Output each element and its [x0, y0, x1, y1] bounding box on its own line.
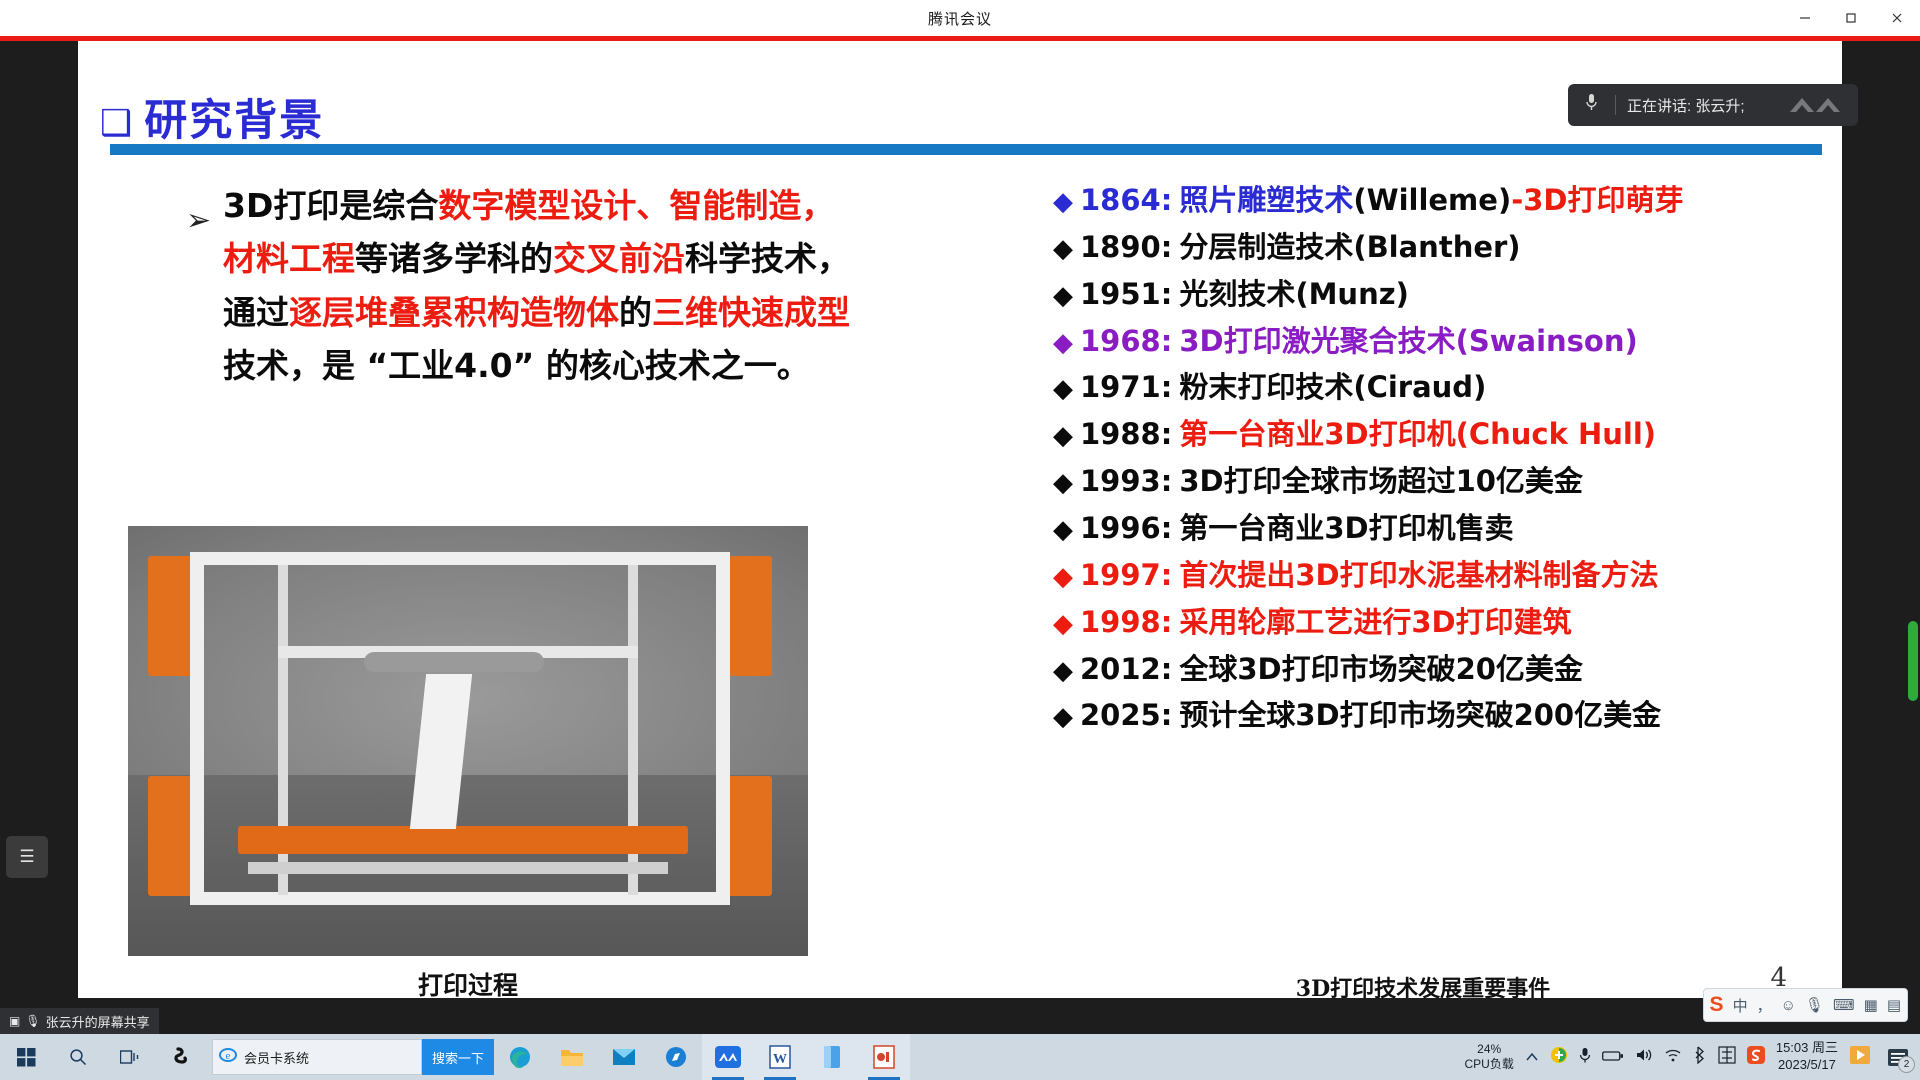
text-run: 等诸多学科的 — [355, 239, 553, 278]
timeline-year: 2025: — [1080, 696, 1172, 735]
ime-menu-icon[interactable]: ▤ — [1887, 996, 1901, 1014]
list-panel-icon: ☰ — [19, 847, 34, 867]
diamond-bullet-icon: ◆ — [1053, 279, 1073, 314]
internet-explorer-icon: e — [219, 1046, 237, 1069]
notification-count-badge: 2 — [1898, 1056, 1915, 1073]
text-run: 交叉前沿 — [553, 239, 685, 278]
browser-compass-icon[interactable] — [650, 1034, 702, 1080]
left-paragraph-line: 材料工程等诸多学科的交叉前沿科学技术， — [223, 232, 963, 285]
text-run: 的 — [619, 293, 652, 332]
slide-scrollbar[interactable] — [1906, 41, 1920, 998]
printer-photo-caption: 打印过程 — [128, 966, 808, 998]
timeline-year: 1890: — [1080, 228, 1172, 267]
battery-icon[interactable] — [1602, 1049, 1624, 1066]
left-paragraph-line: 通过逐层堆叠累积构造物体的三维快速成型 — [223, 286, 963, 339]
text-run: 3D打印是综合 — [223, 186, 438, 225]
sogou-logo-icon: S — [1710, 993, 1724, 1017]
timeline-year: 1951: — [1080, 275, 1172, 314]
taskbar-window-ie[interactable]: e 会员卡系统 — [212, 1039, 422, 1075]
sogou-tray-icon[interactable] — [1747, 1046, 1765, 1068]
svg-text:W: W — [773, 1052, 787, 1067]
text-run: 通过 — [223, 293, 289, 332]
share-status-text: 张云升的屏幕共享 — [46, 1012, 150, 1031]
taskbar-window-title: 会员卡系统 — [244, 1048, 309, 1067]
timeline-year: 1971: — [1080, 368, 1172, 407]
ime-voice-icon[interactable]: 🎙 — [1805, 996, 1824, 1014]
timeline-year: 1993: — [1080, 462, 1172, 501]
minimize-button[interactable] — [1782, 0, 1828, 36]
cpu-load-label: CPU负载 — [1465, 1057, 1514, 1072]
cpu-load-value: 24% — [1465, 1042, 1514, 1057]
diamond-bullet-icon: ◆ — [1053, 700, 1073, 735]
timeline-item: ◆1864:照片雕塑技术(Willeme) -3D打印萌芽 — [1053, 181, 1842, 220]
start-button[interactable] — [0, 1034, 52, 1080]
active-speaker-indicator: 正在讲话: 张云升; — [1568, 84, 1858, 126]
timeline-text-run: 3D打印激光聚合技术(Swainson) — [1179, 322, 1637, 361]
active-speaker-text: 正在讲话: 张云升; — [1627, 95, 1745, 116]
diamond-bullet-icon: ◆ — [1053, 607, 1073, 642]
timeline-text-run: 3D打印全球市场超过10亿美金 — [1179, 462, 1583, 501]
timeline-text-run: 采用轮廓工艺进行3D打印建筑 — [1179, 603, 1571, 642]
text-run: 材料工程 — [223, 239, 355, 278]
meeting-logo-icon — [1786, 90, 1850, 120]
timeline-item: ◆1890:分层制造技术(Blanther) — [1053, 228, 1842, 267]
diamond-bullet-icon: ◆ — [1053, 560, 1073, 595]
diamond-bullet-icon: ◆ — [1053, 419, 1073, 454]
timeline-text-run: 照片雕塑技术 — [1179, 181, 1353, 220]
ime-keyboard-icon[interactable]: ⌨ — [1833, 996, 1855, 1014]
maximize-button[interactable] — [1828, 0, 1874, 36]
search-icon[interactable] — [52, 1034, 104, 1080]
timeline-item: ◆2025:预计全球3D打印市场突破200亿美金 — [1053, 696, 1842, 735]
clock-date: 2023/5/17 — [1776, 1057, 1838, 1074]
shared-slide: ❑研究背景 ➢ 3D打印是综合数字模型设计、智能制造，材料工程等诸多学科的交叉前… — [78, 41, 1842, 998]
timeline-item: ◆1993:3D打印全球市场超过10亿美金 — [1053, 462, 1842, 501]
timeline-year: 1864: — [1080, 181, 1172, 220]
security-shield-icon[interactable] — [1550, 1046, 1568, 1068]
diamond-bullet-icon: ◆ — [1053, 466, 1073, 501]
show-hidden-icons-chevron[interactable] — [1525, 1049, 1539, 1066]
timeline-item: ◆1998:采用轮廓工艺进行3D打印建筑 — [1053, 603, 1842, 642]
annotation-panel-button[interactable]: ☰ — [6, 836, 48, 878]
left-paragraph-line: 3D打印是综合数字模型设计、智能制造， — [223, 179, 963, 232]
timeline-list: ◆1864:照片雕塑技术(Willeme) -3D打印萌芽◆1890:分层制造技… — [1053, 181, 1842, 743]
text-run: 三维快速成型 — [652, 293, 850, 332]
diamond-bullet-icon: ◆ — [1053, 326, 1073, 361]
sogou-browser-icon[interactable] — [156, 1034, 208, 1080]
timeline-item: ◆2012:全球3D打印市场突破20亿美金 — [1053, 650, 1842, 689]
page-title-text: 研究背景 — [144, 96, 324, 146]
bullet-arrow-icon: ➢ — [186, 206, 211, 236]
timeline-text-run: -3D打印萌芽 — [1511, 181, 1683, 220]
svg-text:e: e — [226, 1050, 231, 1062]
wifi-icon[interactable] — [1664, 1048, 1682, 1067]
bluetooth-icon[interactable] — [1693, 1046, 1707, 1068]
text-run: 科学技术， — [685, 239, 850, 278]
timeline-text-run: 全球3D打印市场突破20亿美金 — [1179, 650, 1583, 689]
timeline-year: 2012: — [1080, 650, 1172, 689]
slide-scrollbar-thumb[interactable] — [1908, 621, 1918, 701]
volume-icon[interactable] — [1635, 1047, 1653, 1067]
media-player-icon[interactable] — [1849, 1045, 1871, 1069]
edge-icon[interactable] — [494, 1034, 546, 1080]
microphone-icon[interactable] — [1579, 1047, 1591, 1068]
word-icon[interactable]: W — [754, 1034, 806, 1080]
onedrive-icon[interactable] — [806, 1034, 858, 1080]
ime-punct-icon[interactable]: ， — [1757, 995, 1772, 1016]
timeline-item: ◆1968:3D打印激光聚合技术(Swainson) — [1053, 322, 1842, 361]
timeline-item: ◆1996:第一台商业3D打印机售卖 — [1053, 509, 1842, 548]
timeline-item: ◆1971:粉末打印技术(Ciraud) — [1053, 368, 1842, 407]
file-explorer-icon[interactable] — [546, 1034, 598, 1080]
left-paragraph: 3D打印是综合数字模型设计、智能制造，材料工程等诸多学科的交叉前沿科学技术，通过… — [223, 179, 963, 393]
timeline-text-run: 预计全球3D打印市场突破200亿美金 — [1179, 696, 1661, 735]
timeline-text-run: 第一台商业3D打印机售卖 — [1179, 509, 1513, 548]
timeline-text-run: (Willeme) — [1353, 181, 1511, 220]
printer-photo — [128, 526, 808, 956]
diamond-bullet-icon: ◆ — [1053, 185, 1073, 220]
left-text-block: ➢ 3D打印是综合数字模型设计、智能制造，材料工程等诸多学科的交叉前沿科学技术，… — [173, 179, 963, 393]
text-run: 数字模型设计、智能制造， — [438, 186, 834, 225]
timeline-item: ◆1997:首次提出3D打印水泥基材料制备方法 — [1053, 556, 1842, 595]
system-tray: 24% CPU负载 15:03 周三 — [1465, 1034, 1920, 1080]
timeline-text-run: 光刻技术(Munz) — [1179, 275, 1409, 314]
close-button[interactable] — [1874, 0, 1920, 36]
timeline-text-run: 粉末打印技术(Ciraud) — [1179, 368, 1486, 407]
ime-lang-icon[interactable]: 中 — [1733, 995, 1748, 1016]
timeline-year: 1997: — [1080, 556, 1172, 595]
text-run: 逐层堆叠累积构造物体 — [289, 293, 619, 332]
window-title-bar: 腾讯会议 — [0, 0, 1920, 36]
timeline-year: 1988: — [1080, 415, 1172, 454]
powerpoint-icon[interactable] — [858, 1034, 910, 1080]
timeline-item: ◆1988:第一台商业3D打印机(Chuck Hull) — [1053, 415, 1842, 454]
timeline-text-run: 分层制造技术(Blanther) — [1179, 228, 1520, 267]
timeline-caption: 3D打印技术发展重要事件 — [1053, 971, 1793, 998]
ime-emoji-icon[interactable]: ☺ — [1781, 997, 1796, 1014]
window-controls — [1782, 0, 1920, 36]
timeline-text-run: 首次提出3D打印水泥基材料制备方法 — [1179, 556, 1658, 595]
timeline-year: 1996: — [1080, 509, 1172, 548]
microphone-icon — [1578, 93, 1604, 117]
search-button[interactable]: 搜索一下 — [422, 1039, 494, 1075]
diamond-bullet-icon: ◆ — [1053, 232, 1073, 267]
app-title: 腾讯会议 — [928, 8, 992, 29]
title-underline-rule — [110, 144, 1822, 155]
task-view-icon[interactable] — [104, 1034, 156, 1080]
meeting-app-icon[interactable] — [702, 1034, 754, 1080]
ime-chinese-icon[interactable] — [1718, 1046, 1736, 1068]
cpu-load-indicator: 24% CPU负载 — [1465, 1042, 1514, 1072]
clock-time: 15:03 周三 — [1776, 1040, 1838, 1057]
action-center-button[interactable]: 2 — [1882, 1042, 1914, 1072]
windows-taskbar: e 会员卡系统 搜索一下 W 24% CPU负载 — [0, 1034, 1920, 1080]
share-screen-icon: ▣ — [9, 1014, 20, 1028]
diamond-bullet-icon: ◆ — [1053, 654, 1073, 689]
text-run: 技术，是 “工业4.0” 的核心技术之一。 — [223, 346, 810, 385]
screen-share-status-bar: ▣ 🎙 张云升的屏幕共享 — [0, 1008, 159, 1034]
left-paragraph-line: 技术，是 “工业4.0” 的核心技术之一。 — [223, 339, 963, 392]
timeline-item: ◆1951:光刻技术(Munz) — [1053, 275, 1842, 314]
timeline-year: 1968: — [1080, 322, 1172, 361]
clock[interactable]: 15:03 周三 2023/5/17 — [1776, 1040, 1838, 1074]
title-square-marker: ❑ — [100, 103, 134, 144]
meeting-red-divider — [0, 36, 1920, 41]
diamond-bullet-icon: ◆ — [1053, 372, 1073, 407]
page-title: ❑研究背景 — [100, 86, 324, 148]
diamond-bullet-icon: ◆ — [1053, 513, 1073, 548]
timeline-text-run: 第一台商业3D打印机(Chuck Hull) — [1179, 415, 1656, 454]
mail-icon[interactable] — [598, 1034, 650, 1080]
printer-photo-image — [128, 526, 808, 956]
timeline-year: 1998: — [1080, 603, 1172, 642]
microphone-icon: 🎙 — [25, 1014, 40, 1028]
sogou-ime-bar[interactable]: S 中 ， ☺ 🎙 ⌨ ▦ ▤ — [1703, 988, 1908, 1022]
ime-tool-icon[interactable]: ▦ — [1864, 996, 1878, 1014]
